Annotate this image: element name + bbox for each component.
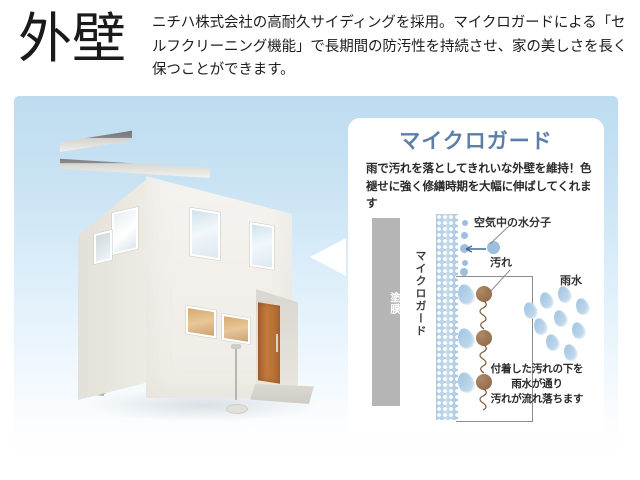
dirt-particle-icon (476, 330, 492, 346)
rain-drop-icon (531, 316, 549, 336)
house-door-handle (276, 334, 278, 352)
water-molecule-icon (460, 268, 468, 276)
house-side-eave (60, 126, 132, 152)
rain-drop-icon (569, 320, 587, 340)
house-window-side-lower (94, 230, 112, 264)
rain-drop-icon (551, 308, 569, 328)
absorption-arrow-icon (460, 245, 486, 253)
label-rainwater: 雨水 (560, 272, 582, 288)
microguard-layer-label: マイクロガード (410, 250, 426, 338)
exterior-wall-infographic: 外壁 ニチハ株式会社の高耐久サイディングを採用。マイクロガードによる「セルフクリ… (0, 0, 640, 480)
rain-drop-icon (561, 342, 579, 362)
rain-drop-icon (537, 290, 555, 310)
panel-description: 雨で汚れを落としてきれいな外壁を維持！色褪せに強く修繕時期を大幅に伸ばしてくれま… (366, 160, 594, 213)
house-water-pole (235, 348, 237, 400)
content-stage: マイクロガード 雨で汚れを落としてきれいな外壁を維持！色褪せに強く修繕時期を大幅… (14, 96, 618, 464)
panel-title: マイクロガード (348, 128, 604, 154)
water-molecule-icon (461, 232, 468, 239)
label-water-molecule: 空気中の水分子 (474, 214, 551, 230)
rain-drop-icon (573, 296, 591, 316)
house-water-pole-cap (231, 344, 241, 349)
house-photo (14, 96, 344, 464)
water-molecule-icon (462, 260, 468, 266)
diagram-caption: 付着した汚れの下を 雨水が通り 汚れが流れ落ちます (474, 362, 600, 407)
microguard-dotted-column (436, 214, 458, 420)
rain-drop-icon (543, 332, 561, 352)
header: 外壁 ニチハ株式会社の高耐久サイディングを採用。マイクロガードによる「セルフクリ… (0, 0, 640, 96)
house-window-lower-left (186, 306, 216, 339)
header-description: ニチハ株式会社の高耐久サイディングを採用。マイクロガードによる「セルフクリーニン… (152, 12, 632, 83)
house-window-upper-right (250, 222, 274, 270)
microguard-panel: マイクロガード 雨で汚れを落としてきれいな外壁を維持！色褪せに強く修繕時期を大幅… (348, 118, 604, 436)
page-title: 外壁 (18, 8, 138, 70)
rainwater-drop-cluster (524, 286, 600, 358)
microguard-diagram: 塗膜 マイクロガード (348, 214, 604, 426)
house-window-upper-left (190, 208, 220, 261)
house-window-lower-right (222, 314, 250, 344)
coating-layer-label: 塗膜 (372, 292, 400, 315)
house-front-eave (60, 152, 210, 178)
label-dirt: 汚れ (490, 254, 512, 270)
water-molecule-icon (462, 220, 468, 226)
house-illustration (60, 126, 310, 406)
dirt-particle-icon (476, 286, 492, 302)
dirt-tail-squiggle (478, 301, 490, 331)
house-manhole-cover (226, 404, 248, 414)
house-window-side-upper (112, 207, 138, 255)
